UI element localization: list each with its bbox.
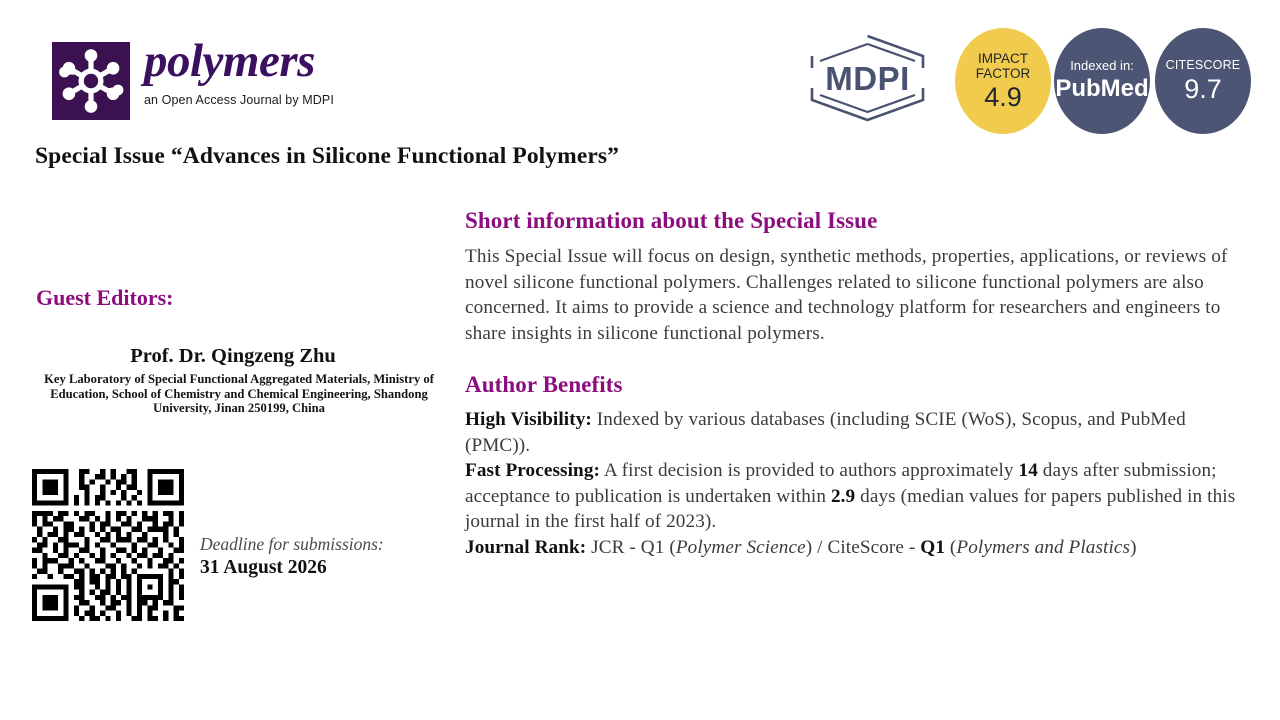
deadline-label: Deadline for submissions: <box>200 534 384 555</box>
qr-code[interactable] <box>32 466 184 624</box>
page-header: polymers an Open Access Journal by MDPI … <box>0 0 1280 136</box>
main-content: Short information about the Special Issu… <box>465 208 1237 560</box>
benefit-fast-processing: Fast Processing: A first decision is pro… <box>465 458 1237 535</box>
impact-factor-line2: FACTOR <box>976 66 1031 81</box>
journal-rank-mid-text: ) / CiteScore - <box>806 537 921 558</box>
impact-factor-badge: IMPACT FACTOR 4.9 <box>955 28 1051 134</box>
citescore-close-paren: ) <box>1130 537 1137 558</box>
acceptance-to-publication-days: 2.9 <box>831 486 855 507</box>
jcr-rank-text: JCR - Q1 ( <box>586 537 676 558</box>
journal-tagline: an Open Access Journal by MDPI <box>144 93 334 107</box>
impact-factor-value: 4.9 <box>984 82 1022 112</box>
deadline-text-block: Deadline for submissions: 31 August 2026 <box>200 534 384 579</box>
benefit-high-visibility: High Visibility: Indexed by various data… <box>465 407 1237 458</box>
author-benefits-section: Author Benefits High Visibility: Indexed… <box>465 372 1237 560</box>
polymers-molecule-icon <box>52 42 130 120</box>
citescore-category: Polymers and Plastics <box>956 537 1130 558</box>
citescore-rank: Q1 <box>920 537 945 558</box>
benefit-fast-processing-label: Fast Processing: <box>465 460 600 481</box>
citescore-open-paren: ( <box>945 537 956 558</box>
impact-factor-line1: IMPACT <box>978 51 1028 66</box>
pubmed-label: Indexed in: <box>1070 58 1134 73</box>
guest-editors-heading: Guest Editors: <box>36 285 453 311</box>
benefit-journal-rank: Journal Rank: JCR - Q1 (Polymer Science)… <box>465 535 1237 561</box>
journal-logo: polymers an Open Access Journal by MDPI <box>52 42 334 120</box>
jcr-category: Polymer Science <box>676 537 806 558</box>
special-issue-title: Special Issue “Advances in Silicone Func… <box>35 143 619 170</box>
short-information-body: This Special Issue will focus on design,… <box>465 244 1237 346</box>
short-information-heading: Short information about the Special Issu… <box>465 208 1237 234</box>
pubmed-badge: Indexed in: PubMed <box>1054 28 1150 134</box>
svg-text:MDPI: MDPI <box>825 60 910 97</box>
citescore-label: CITESCORE <box>1166 58 1241 73</box>
pubmed-value: PubMed <box>1055 74 1148 104</box>
guest-editors-section: Guest Editors: Prof. Dr. Qingzeng Zhu Ke… <box>33 285 453 416</box>
journal-wordmark: polymers <box>144 38 334 85</box>
first-decision-days: 14 <box>1019 460 1038 481</box>
author-benefits-heading: Author Benefits <box>465 372 1237 398</box>
guest-editor-affiliation: Key Laboratory of Special Functional Agg… <box>33 372 453 416</box>
citescore-badge: CITESCORE 9.7 <box>1155 28 1251 134</box>
mdpi-logo: MDPI <box>805 32 930 124</box>
short-information-section: Short information about the Special Issu… <box>465 208 1237 346</box>
benefit-journal-rank-label: Journal Rank: <box>465 537 586 558</box>
benefit-fast-processing-text-1: A first decision is provided to authors … <box>600 460 1019 481</box>
deadline-date: 31 August 2026 <box>200 556 384 579</box>
journal-logo-text: polymers an Open Access Journal by MDPI <box>144 38 334 107</box>
guest-editor-name: Prof. Dr. Qingzeng Zhu <box>33 345 453 368</box>
guest-editor-entry: Prof. Dr. Qingzeng Zhu Key Laboratory of… <box>33 345 453 416</box>
deadline-section: Deadline for submissions: 31 August 2026 <box>32 466 384 624</box>
benefit-high-visibility-label: High Visibility: <box>465 409 592 430</box>
citescore-value: 9.7 <box>1184 74 1222 104</box>
